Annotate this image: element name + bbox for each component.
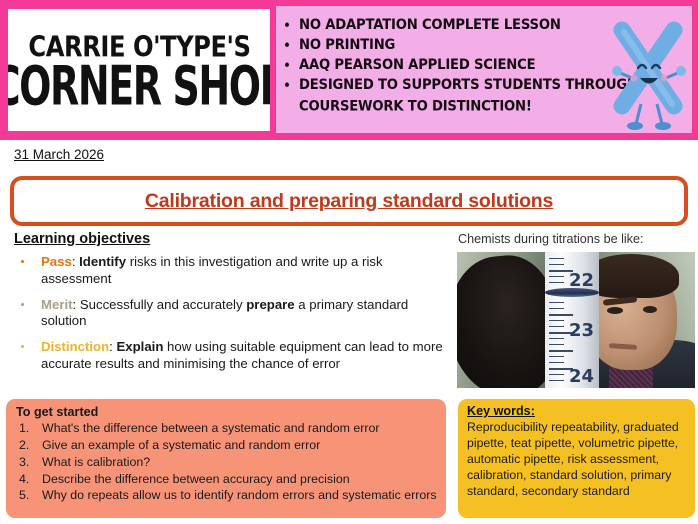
to-get-started-question: Why do repeats allow us to identify rand… [16,487,438,504]
objective-level-label: Merit [41,297,73,312]
to-get-started-question: What is calibration? [16,454,438,471]
header-bullets-panel: NO ADAPTATION COMPLETE LESSON NO PRINTIN… [276,0,698,140]
to-get-started-question-list: What's the difference between a systemat… [16,420,438,504]
objective-command-word: prepare [246,297,294,312]
meme-image: 22 23 24 [457,252,695,388]
brand-logo-panel: CARRIE O'TYPE'S CORNER SHOP [0,0,276,140]
mascot-x-character-icon [610,18,686,136]
meme-caption: Chemists during titrations be like: [458,232,644,246]
objective-pre-text: Successfully and accurately [76,297,246,312]
lesson-title-box: Calibration and preparing standard solut… [10,176,688,226]
objective-level-label: Distinction [41,339,109,354]
brand-logo-line-2: CORNER SHOP [8,60,270,114]
lesson-date: 31 March 2026 [14,147,104,162]
learning-objective-distinction: Distinction: Explain how using suitable … [14,339,446,373]
meme-man-eye-left [607,307,623,314]
key-words-box: Key words: Reproducibility repeatability… [458,399,695,518]
learning-objectives-list: Pass: Identify risks in this investigati… [14,254,446,373]
learning-objectives-section: Learning objectives Pass: Identify risks… [14,231,446,382]
brand-logo: CARRIE O'TYPE'S CORNER SHOP [8,9,270,131]
meme-man-eye-right [643,306,657,313]
to-get-started-question: Describe the difference between accuracy… [16,471,438,488]
objective-command-word: Identify [79,254,126,269]
burette-reading-23: 23 [569,322,594,340]
header-bullet-text: AAQ PEARSON APPLIED SCIENCE [299,57,535,73]
header-bullet-text: DESIGNED TO SUPPORTS STUDENTS THROUGH [299,77,638,93]
burette-reading-24: 24 [569,368,594,386]
key-words-title: Key words: [467,404,688,418]
learning-objective-merit: Merit: Successfully and accurately prepa… [14,297,446,331]
burette-reading-22: 22 [569,272,594,290]
burette-scale-overlay: 22 23 24 [545,252,599,388]
to-get-started-title: To get started [16,405,438,419]
learning-objective-pass: Pass: Identify risks in this investigati… [14,254,446,288]
header-banner: CARRIE O'TYPE'S CORNER SHOP NO ADAPTATIO… [0,0,698,140]
objective-command-word: Explain [116,339,163,354]
key-words-body: Reproducibility repeatability, graduated… [467,419,688,499]
page-title: Calibration and preparing standard solut… [145,190,553,213]
header-bullet-text: NO ADAPTATION COMPLETE LESSON [299,17,561,33]
header-bullet-text: NO PRINTING [299,37,395,53]
to-get-started-question: What's the difference between a systemat… [16,420,438,437]
to-get-started-box: To get started What's the difference bet… [6,399,446,518]
learning-objectives-heading: Learning objectives [14,231,446,247]
objective-level-label: Pass [41,254,72,269]
to-get-started-question: Give an example of a systematic and rand… [16,437,438,454]
